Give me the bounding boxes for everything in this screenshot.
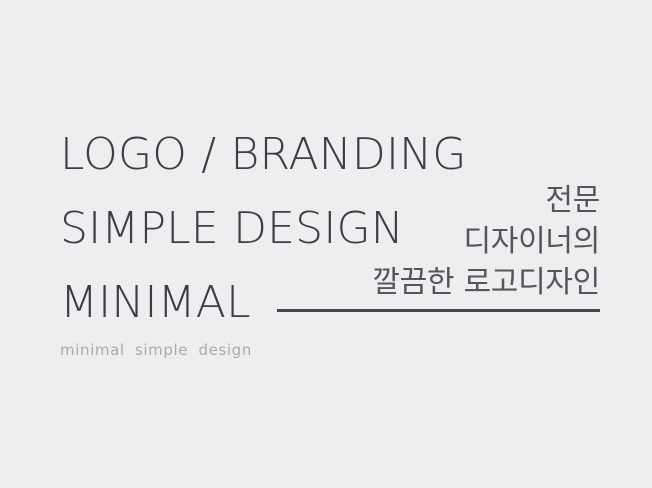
korean-line-1: 전문 xyxy=(300,180,600,221)
korean-line-2: 디자이너의 xyxy=(300,221,600,262)
korean-subtitle-block: 전문 디자이너의 깔끔한 로고디자인 xyxy=(300,180,600,303)
caption-text: minimal simple design xyxy=(60,341,252,359)
design-banner-canvas: LOGO / BRANDING SIMPLE DESIGN MINIMAL mi… xyxy=(0,0,652,488)
horizontal-divider-rule xyxy=(277,309,600,312)
korean-line-3: 깔끔한 로고디자인 xyxy=(300,262,600,303)
